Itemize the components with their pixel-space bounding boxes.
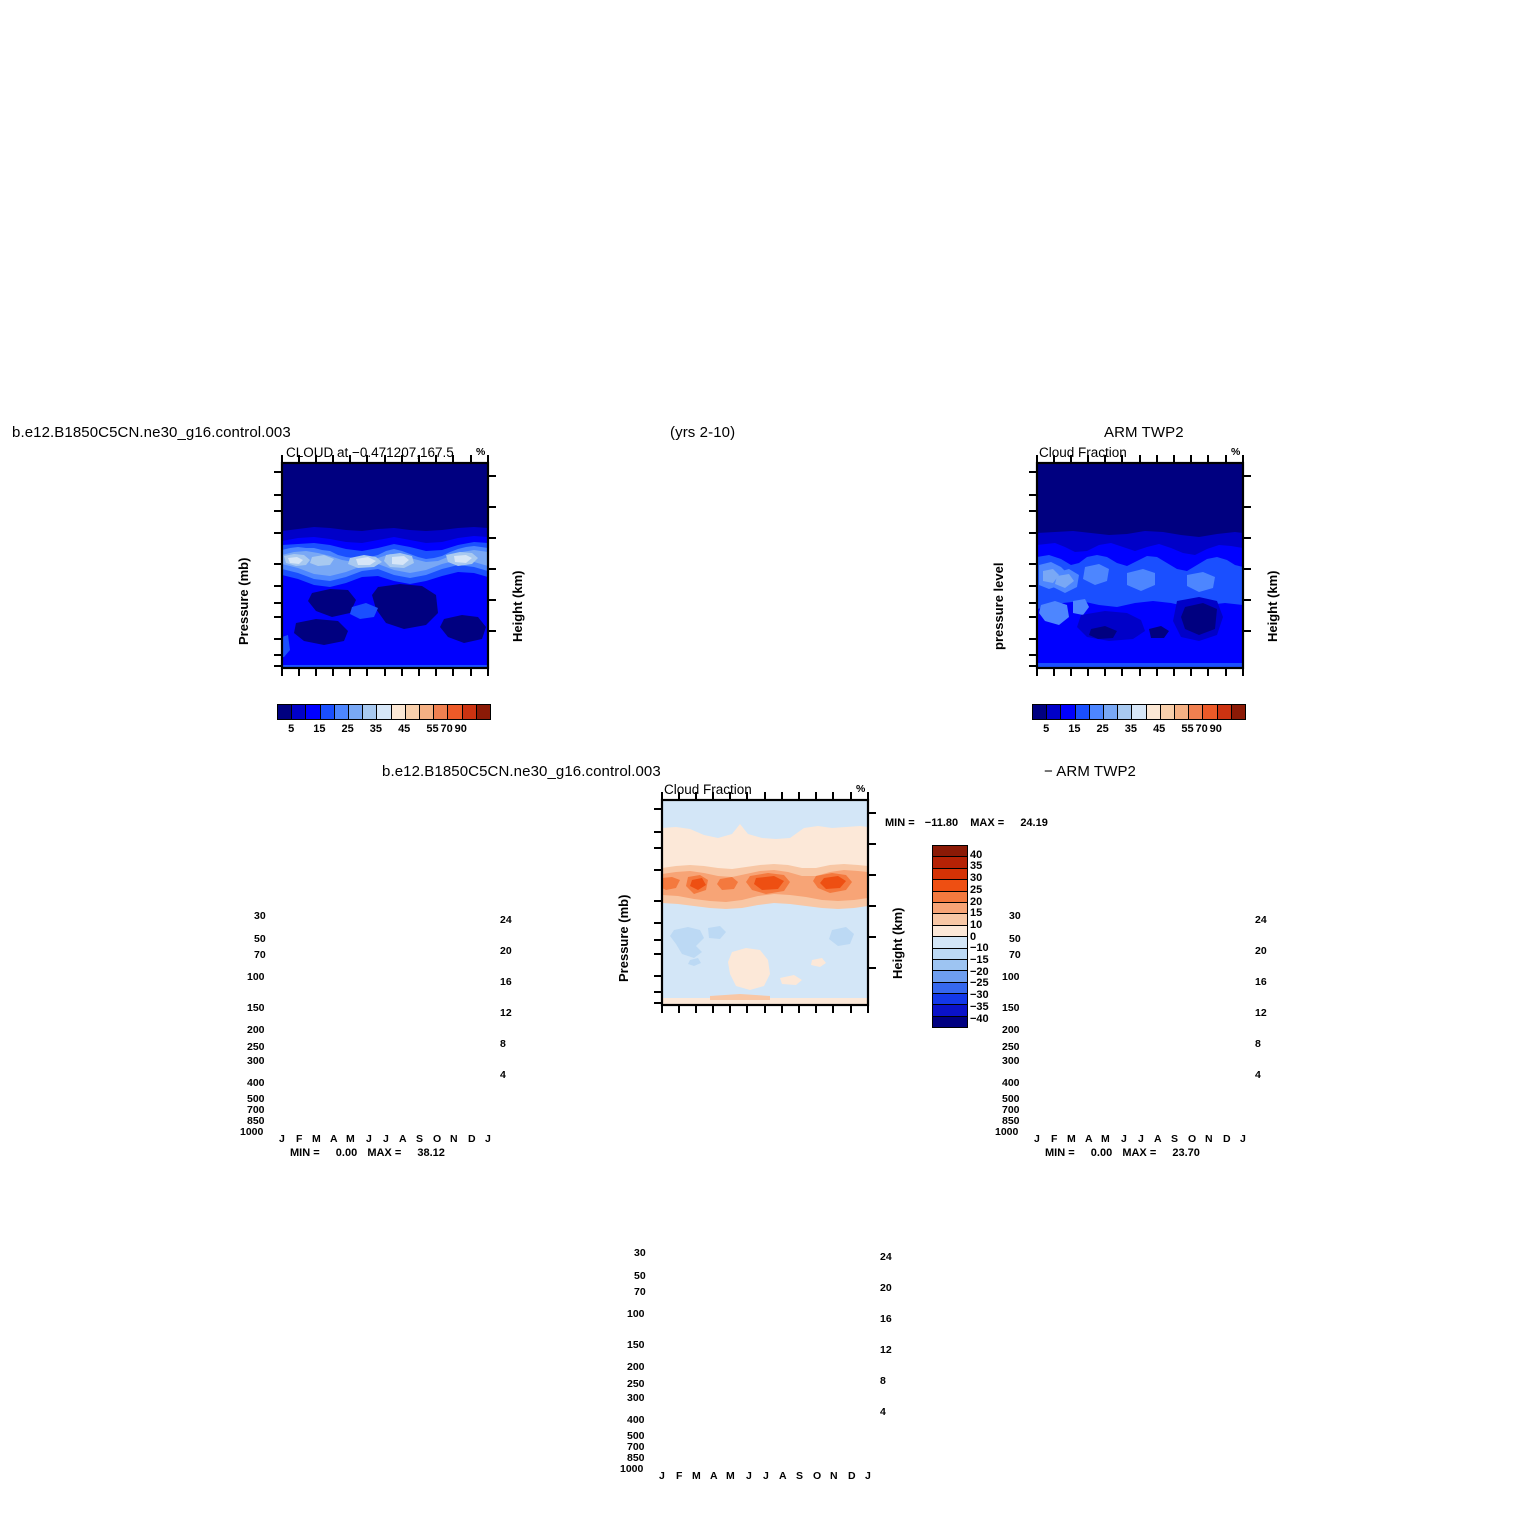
yrtick-16: 16 [880, 1313, 892, 1325]
min-label: MIN = [885, 817, 915, 829]
colorbar-label-35: 35 [370, 723, 382, 735]
panel-obs-units: % [1231, 446, 1240, 458]
panel-model-units: % [476, 446, 485, 458]
colorbar-cell-14 [933, 1005, 967, 1016]
ytick-70: 70 [634, 1286, 646, 1298]
yrtick-4: 4 [1255, 1069, 1261, 1081]
colorbar-label-70: 70 [440, 723, 452, 735]
xtick-J3: J [1138, 1133, 1144, 1145]
ytick-200: 200 [247, 1024, 265, 1036]
panel-obs-ylabel-right: Height (km) [1265, 571, 1280, 643]
colorbar-label--15: −15 [970, 954, 989, 966]
xtick-A2: A [779, 1470, 787, 1482]
panel-obs: Cloud Fraction % pressure level Height (… [955, 445, 1275, 705]
yrtick-24: 24 [880, 1251, 892, 1263]
colorbar-cell-10 [1175, 705, 1189, 719]
yrtick-8: 8 [880, 1375, 886, 1387]
colorbar-cell-13 [1218, 705, 1232, 719]
yrtick-16: 16 [500, 976, 512, 988]
panel-obs-title: Cloud Fraction [1039, 445, 1127, 460]
panel-diff-ylabel-right: Height (km) [890, 908, 905, 980]
colorbar-label--40: −40 [970, 1013, 989, 1025]
colorbar-label-25: 25 [970, 884, 982, 896]
ytick-200: 200 [1002, 1024, 1020, 1036]
colorbar-label-0: 0 [970, 931, 976, 943]
colorbar-cell-4 [1090, 705, 1104, 719]
colorbar-cell-1 [933, 857, 967, 868]
xtick-M1: M [1067, 1133, 1076, 1145]
colorbar-cell-5 [349, 705, 363, 719]
min-label: MIN = [290, 1147, 320, 1159]
ytick-30: 30 [634, 1247, 646, 1259]
yrtick-24: 24 [1255, 914, 1267, 926]
yrtick-4: 4 [880, 1406, 886, 1418]
xtick-N: N [450, 1133, 458, 1145]
ytick-150: 150 [247, 1002, 265, 1014]
colorbar-label-25: 25 [342, 723, 354, 735]
colorbar-cell-4 [933, 892, 967, 903]
colorbar-label-70: 70 [1195, 723, 1207, 735]
xtick-J4: J [865, 1470, 871, 1482]
xtick-J2: J [1121, 1133, 1127, 1145]
colorbar-cell-11 [933, 971, 967, 982]
colorbar-cell-10 [933, 960, 967, 971]
colorbar-label-20: 20 [970, 896, 982, 908]
ytick-50: 50 [1009, 933, 1021, 945]
panel-obs-ylabel: pressure level [991, 563, 1006, 650]
xtick-A2: A [1154, 1133, 1162, 1145]
colorbar-cell-12 [1203, 705, 1217, 719]
max-label: MAX = [1122, 1147, 1156, 1159]
colorbar-label-90: 90 [455, 723, 467, 735]
header-obs-name: ARM TWP2 [1104, 424, 1184, 441]
colorbar-cell-7 [1132, 705, 1146, 719]
ytick-30: 30 [1009, 910, 1021, 922]
colorbar-cell-6 [363, 705, 377, 719]
yrtick-20: 20 [880, 1282, 892, 1294]
yrtick-12: 12 [1255, 1007, 1267, 1019]
colorbar-label-35: 35 [970, 860, 982, 872]
colorbar-label-55: 55 [426, 723, 438, 735]
ytick-250: 250 [627, 1378, 645, 1390]
colorbar-cell-12 [933, 983, 967, 994]
colorbar-cell-9 [1161, 705, 1175, 719]
colorbar-cell-11 [1189, 705, 1203, 719]
colorbar-cell-9 [406, 705, 420, 719]
xtick-N: N [830, 1470, 838, 1482]
yrtick-24: 24 [500, 914, 512, 926]
colorbar-label-5: 5 [1043, 723, 1049, 735]
colorbar-label--20: −20 [970, 966, 989, 978]
ytick-30: 30 [254, 910, 266, 922]
panel-model: CLOUD at −0.471207,167.5 % Pressure (mb)… [200, 445, 520, 705]
xtick-A1: A [330, 1133, 338, 1145]
colorbar-cell-5 [1104, 705, 1118, 719]
colorbar-label--25: −25 [970, 977, 989, 989]
colorbar-cell-0 [933, 846, 967, 857]
colorbar-cell-9 [933, 949, 967, 960]
ytick-150: 150 [627, 1339, 645, 1351]
ytick-250: 250 [247, 1041, 265, 1053]
colorbar-label-30: 30 [970, 872, 982, 884]
ytick-1000: 1000 [240, 1126, 263, 1138]
ytick-400: 400 [627, 1414, 645, 1426]
panel-obs-minmax: MIN = 0.00 MAX = 23.70 [1045, 1147, 1200, 1159]
colorbar-label-40: 40 [970, 849, 982, 861]
ytick-70: 70 [1009, 949, 1021, 961]
ytick-200: 200 [627, 1361, 645, 1373]
max-value: 23.70 [1172, 1147, 1200, 1159]
colorbar-label-5: 5 [288, 723, 294, 735]
xtick-F: F [1051, 1133, 1057, 1145]
colorbar-cell-14 [477, 705, 490, 719]
colorbar-label--10: −10 [970, 942, 989, 954]
xtick-J1: J [279, 1133, 285, 1145]
ytick-70: 70 [254, 949, 266, 961]
colorbar-cell-2 [1061, 705, 1075, 719]
panel-diff-units: % [856, 783, 865, 795]
yrtick-4: 4 [500, 1069, 506, 1081]
max-value: 38.12 [417, 1147, 445, 1159]
colorbar-label--35: −35 [970, 1001, 989, 1013]
panel-diff-minmax: MIN = −11.80 MAX = 24.19 [885, 817, 1048, 829]
diff-header-left: b.e12.B1850C5CN.ne30_g16.control.003 [382, 763, 661, 780]
panel-model-colorbar[interactable]: 515253545557090 [277, 704, 491, 739]
ytick-1000: 1000 [620, 1463, 643, 1475]
xtick-J2: J [746, 1470, 752, 1482]
header-model-name: b.e12.B1850C5CN.ne30_g16.control.003 [12, 424, 291, 441]
ytick-50: 50 [254, 933, 266, 945]
colorbar-cell-8 [933, 937, 967, 948]
xtick-F: F [676, 1470, 682, 1482]
colorbar-cell-8 [1147, 705, 1161, 719]
colorbar-cell-7 [377, 705, 391, 719]
panel-model-ylabel: Pressure (mb) [236, 558, 251, 645]
xtick-S: S [416, 1133, 423, 1145]
ytick-150: 150 [1002, 1002, 1020, 1014]
max-label: MAX = [970, 817, 1004, 829]
ytick-400: 400 [247, 1077, 265, 1089]
colorbar-cell-2 [306, 705, 320, 719]
ytick-300: 300 [627, 1392, 645, 1404]
colorbar-label-15: 15 [970, 907, 982, 919]
panel-model-title: CLOUD at −0.471207,167.5 [286, 445, 454, 460]
min-value: −11.80 [925, 817, 958, 829]
panel-model-ylabel-right: Height (km) [510, 571, 525, 643]
xtick-J2: J [366, 1133, 372, 1145]
colorbar-label-45: 45 [1153, 723, 1165, 735]
colorbar-cell-8 [392, 705, 406, 719]
xtick-J3: J [383, 1133, 389, 1145]
ytick-300: 300 [1002, 1055, 1020, 1067]
colorbar-label-25: 25 [1097, 723, 1109, 735]
colorbar-label-35: 35 [1125, 723, 1137, 735]
colorbar-cell-0 [278, 705, 292, 719]
xtick-A1: A [1085, 1133, 1093, 1145]
colorbar-cell-6 [933, 914, 967, 925]
xtick-O: O [433, 1133, 441, 1145]
colorbar-cell-10 [420, 705, 434, 719]
colorbar-cell-2 [933, 869, 967, 880]
xtick-O: O [813, 1470, 821, 1482]
panel-diff-ylabel: Pressure (mb) [616, 895, 631, 982]
colorbar-cell-1 [1047, 705, 1061, 719]
ytick-100: 100 [247, 971, 265, 983]
yrtick-8: 8 [1255, 1038, 1261, 1050]
colorbar-cell-3 [933, 880, 967, 891]
xtick-D: D [1223, 1133, 1231, 1145]
ytick-300: 300 [247, 1055, 265, 1067]
xtick-O: O [1188, 1133, 1196, 1145]
ytick-100: 100 [627, 1308, 645, 1320]
panel-diff-title: Cloud Fraction [664, 782, 752, 797]
colorbar-cell-4 [335, 705, 349, 719]
colorbar-cell-5 [933, 903, 967, 914]
xtick-A1: A [710, 1470, 718, 1482]
xtick-J1: J [659, 1470, 665, 1482]
header-years-label: (yrs 2-10) [670, 424, 735, 441]
colorbar-cell-0 [1033, 705, 1047, 719]
colorbar-cell-6 [1118, 705, 1132, 719]
xtick-M2: M [1101, 1133, 1110, 1145]
colorbar-label-15: 15 [1068, 723, 1080, 735]
ytick-250: 250 [1002, 1041, 1020, 1053]
yrtick-16: 16 [1255, 976, 1267, 988]
yrtick-12: 12 [500, 1007, 512, 1019]
diff-header-right: − ARM TWP2 [1044, 763, 1136, 780]
xtick-M2: M [726, 1470, 735, 1482]
min-label: MIN = [1045, 1147, 1075, 1159]
yrtick-20: 20 [1255, 945, 1267, 957]
colorbar-cell-7 [933, 926, 967, 937]
yrtick-20: 20 [500, 945, 512, 957]
panel-difference: Cloud Fraction % Pressure (mb) Height (k… [580, 782, 900, 1042]
ytick-50: 50 [634, 1270, 646, 1282]
colorbar-cell-13 [933, 994, 967, 1005]
colorbar-label-10: 10 [970, 919, 982, 931]
colorbar-cell-13 [463, 705, 477, 719]
xtick-J3: J [763, 1470, 769, 1482]
max-value: 24.19 [1020, 817, 1048, 829]
xtick-S: S [1171, 1133, 1178, 1145]
colorbar-label--30: −30 [970, 989, 989, 1001]
xtick-D: D [848, 1470, 856, 1482]
ytick-1000: 1000 [995, 1126, 1018, 1138]
colorbar-cell-1 [292, 705, 306, 719]
colorbar-label-15: 15 [313, 723, 325, 735]
xtick-J1: J [1034, 1133, 1040, 1145]
max-label: MAX = [367, 1147, 401, 1159]
colorbar-cell-3 [1076, 705, 1090, 719]
xtick-M2: M [346, 1133, 355, 1145]
xtick-A2: A [399, 1133, 407, 1145]
xtick-J4: J [485, 1133, 491, 1145]
ytick-400: 400 [1002, 1077, 1020, 1089]
colorbar-label-55: 55 [1181, 723, 1193, 735]
xtick-F: F [296, 1133, 302, 1145]
colorbar-cell-15 [933, 1017, 967, 1027]
colorbar-cell-11 [434, 705, 448, 719]
ytick-100: 100 [1002, 971, 1020, 983]
xtick-J4: J [1240, 1133, 1246, 1145]
min-value: 0.00 [336, 1147, 357, 1159]
xtick-M1: M [692, 1470, 701, 1482]
colorbar-label-45: 45 [398, 723, 410, 735]
panel-model-minmax: MIN = 0.00 MAX = 38.12 [290, 1147, 445, 1159]
colorbar-label-90: 90 [1210, 723, 1222, 735]
panel-diff-colorbar[interactable]: 403530252015100−10−15−20−25−30−35−40 [932, 845, 968, 1028]
xtick-N: N [1205, 1133, 1213, 1145]
colorbar-cell-3 [321, 705, 335, 719]
yrtick-12: 12 [880, 1344, 892, 1356]
xtick-D: D [468, 1133, 476, 1145]
colorbar-cell-14 [1232, 705, 1245, 719]
xtick-M1: M [312, 1133, 321, 1145]
min-value: 0.00 [1091, 1147, 1112, 1159]
xtick-S: S [796, 1470, 803, 1482]
yrtick-8: 8 [500, 1038, 506, 1050]
panel-obs-colorbar[interactable]: 515253545557090 [1032, 704, 1246, 739]
colorbar-cell-12 [448, 705, 462, 719]
